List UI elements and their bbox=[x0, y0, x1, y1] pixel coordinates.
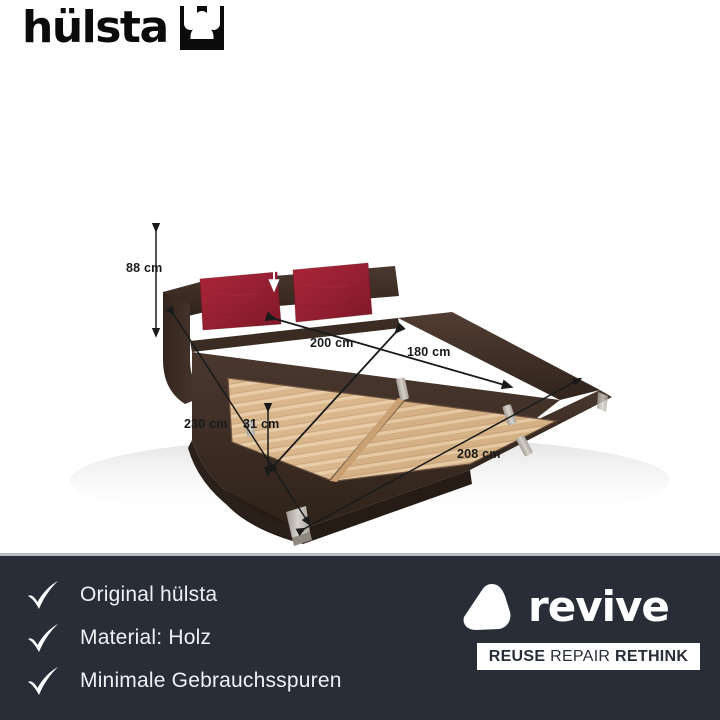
dim-label-mattress-length: 200 cm bbox=[310, 336, 354, 350]
revive-blob-icon bbox=[462, 582, 516, 632]
revive-logo-top: revive bbox=[462, 582, 700, 632]
tagline-reuse: REUSE bbox=[489, 648, 546, 665]
dim-label-frame-length: 230 cm bbox=[184, 417, 228, 431]
product-image-stage: 88 cm 57 cm 200 cm 180 cm 230 cm 31 cm 2… bbox=[0, 60, 720, 553]
hulsta-figure-mark-icon bbox=[180, 6, 224, 50]
dim-line-mattress-width bbox=[272, 318, 508, 386]
feature-item-original: Original hülsta bbox=[26, 580, 342, 610]
check-icon bbox=[26, 623, 60, 653]
product-info-banner: Original hülsta Material: Holz Minimale … bbox=[0, 553, 720, 720]
dim-label-mattress-width: 180 cm bbox=[407, 345, 451, 359]
hulsta-wordmark: hülsta bbox=[22, 6, 168, 50]
tagline-repair: REPAIR bbox=[550, 648, 610, 665]
revive-logo: revive REUSE REPAIR RETHINK bbox=[462, 582, 700, 670]
dim-label-height-overall: 88 cm bbox=[126, 261, 162, 275]
revive-tagline: REUSE REPAIR RETHINK bbox=[477, 643, 700, 670]
feature-label: Original hülsta bbox=[80, 583, 217, 607]
dim-line-mattress-length bbox=[270, 330, 398, 470]
dimension-annotation-layer bbox=[0, 60, 720, 553]
dim-label-frame-height: 31 cm bbox=[243, 417, 279, 431]
feature-list: Original hülsta Material: Holz Minimale … bbox=[26, 580, 342, 696]
brand-header: hülsta bbox=[22, 6, 224, 50]
feature-item-material: Material: Holz bbox=[26, 623, 342, 653]
dim-line-frame-width bbox=[302, 380, 578, 530]
dim-label-frame-width: 208 cm bbox=[457, 447, 501, 461]
check-icon bbox=[26, 666, 60, 696]
feature-item-condition: Minimale Gebrauchsspuren bbox=[26, 666, 342, 696]
check-icon bbox=[26, 580, 60, 610]
feature-label: Material: Holz bbox=[80, 626, 211, 650]
feature-label: Minimale Gebrauchsspuren bbox=[80, 669, 342, 693]
dim-label-headboard-height: 57 cm bbox=[233, 224, 269, 238]
tagline-rethink: RETHINK bbox=[615, 648, 688, 665]
revive-wordmark: revive bbox=[528, 586, 669, 628]
